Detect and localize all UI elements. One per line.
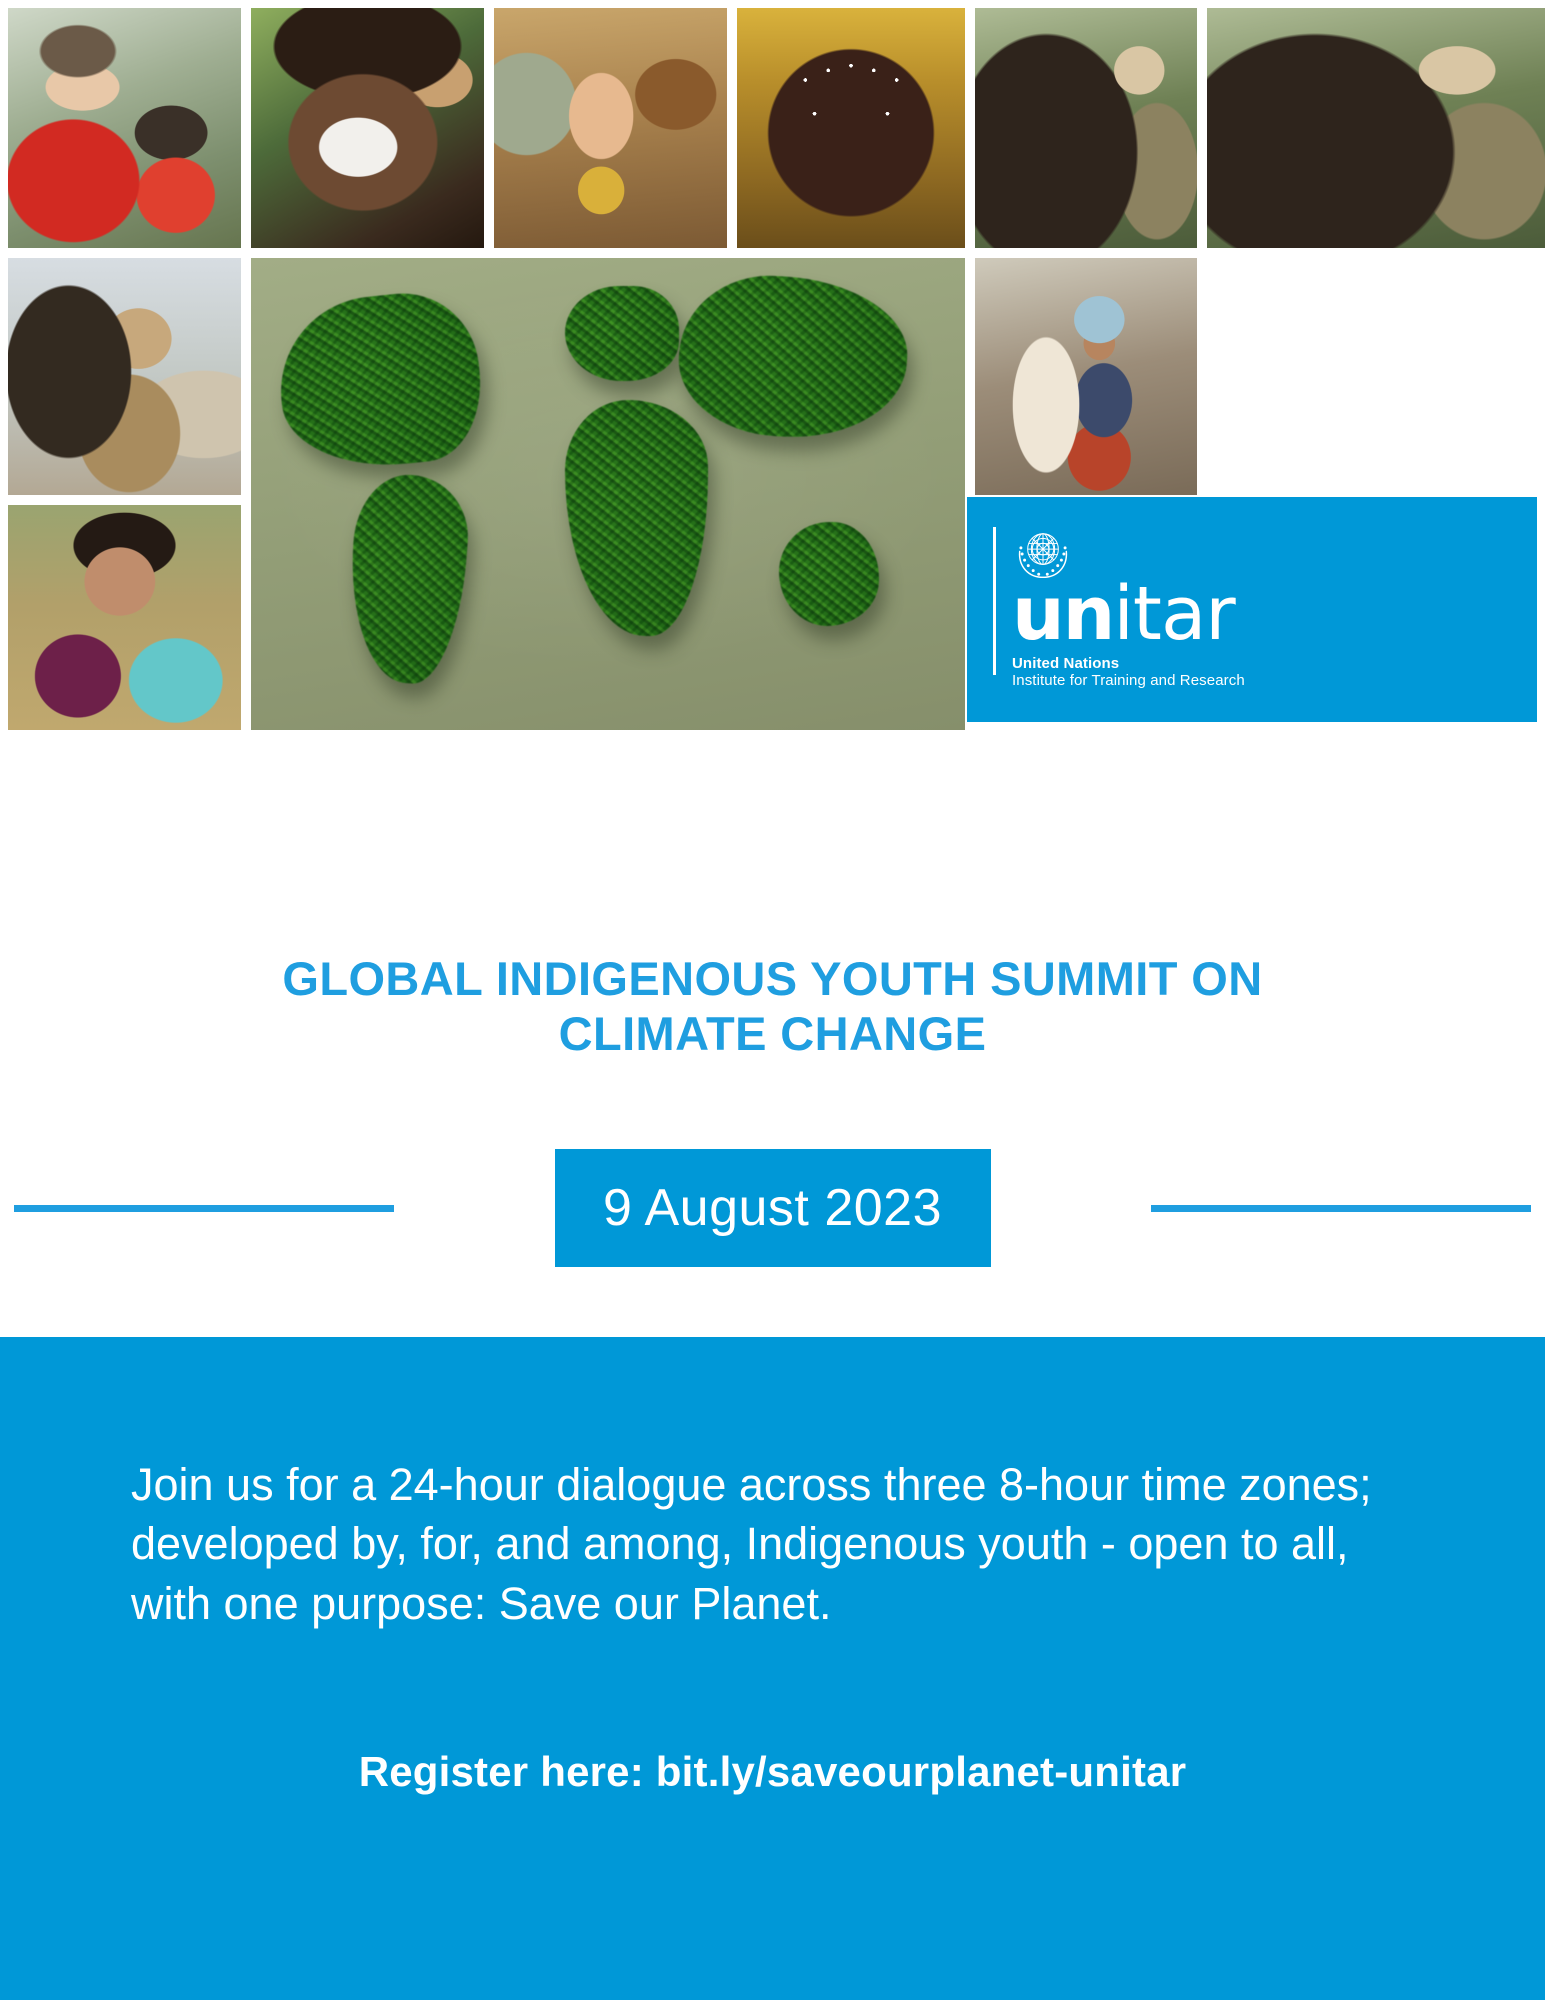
photo-painted-face-youth-image: [251, 8, 484, 248]
photo-rider-with-horse: [1207, 8, 1545, 248]
photo-quechua-man-llama-image: [8, 8, 241, 248]
event-date-badge: 9 August 2023: [555, 1149, 991, 1267]
logo-tagline-line1: United Nations: [1012, 655, 1245, 672]
registration-link[interactable]: Register here: bit.ly/saveourplanet-unit…: [0, 1748, 1545, 1796]
photo-woman-face-markings-image: [8, 505, 241, 730]
logo-tagline-line2: Institute for Training and Research: [1012, 672, 1245, 689]
photo-dotted-face-woman: [737, 8, 965, 248]
unitar-logo-panel: unitar United Nations Institute for Trai…: [967, 497, 1537, 722]
photo-dotted-face-woman-image: [737, 8, 965, 248]
photo-woman-face-markings: [8, 505, 241, 730]
event-date-row: 9 August 2023: [0, 1133, 1545, 1283]
moss-continent-south-america: [344, 471, 472, 686]
photo-rider-with-horse-left-image: [975, 8, 1197, 248]
page-title-line1: GLOBAL INDIGENOUS YOUTH SUMMIT ON: [0, 952, 1545, 1007]
description-panel: Join us for a 24-hour dialogue across th…: [0, 1337, 1545, 2000]
unitar-wordmark: unitar: [1012, 583, 1245, 645]
moss-continent-australia: [779, 522, 879, 626]
photo-eagle-hunter-image: [8, 258, 241, 495]
moss-continent-north-america: [271, 286, 488, 476]
photo-moss-world-map: [251, 258, 965, 730]
unitar-logo: unitar United Nations Institute for Trai…: [993, 527, 1245, 689]
photo-painted-face-youth: [251, 8, 484, 248]
description-text: Join us for a 24-hour dialogue across th…: [131, 1455, 1421, 1633]
decorative-rule-left: [14, 1205, 394, 1212]
photo-rider-with-horse-image: [1207, 8, 1545, 248]
unitar-wordmark-light: itar: [1113, 571, 1234, 657]
photo-quechua-man-llama: [8, 8, 241, 248]
logo-content: unitar United Nations Institute for Trai…: [1012, 527, 1245, 689]
photo-girl-with-alpaca: [975, 258, 1197, 495]
logo-divider-rule: [993, 527, 996, 675]
decorative-rule-right: [1151, 1205, 1531, 1212]
photo-kayan-woman: [494, 8, 727, 248]
photo-eagle-hunter: [8, 258, 241, 495]
photo-rider-with-horse-left: [975, 8, 1197, 248]
photo-kayan-woman-image: [494, 8, 727, 248]
moss-continent-europe: [565, 286, 679, 380]
photo-girl-with-alpaca-image: [975, 258, 1197, 495]
moss-continent-asia: [675, 271, 912, 443]
page-title: GLOBAL INDIGENOUS YOUTH SUMMIT ON CLIMAT…: [0, 952, 1545, 1062]
moss-continent-africa: [565, 400, 708, 636]
unitar-wordmark-bold: un: [1012, 571, 1113, 657]
page-title-line2: CLIMATE CHANGE: [0, 1007, 1545, 1062]
